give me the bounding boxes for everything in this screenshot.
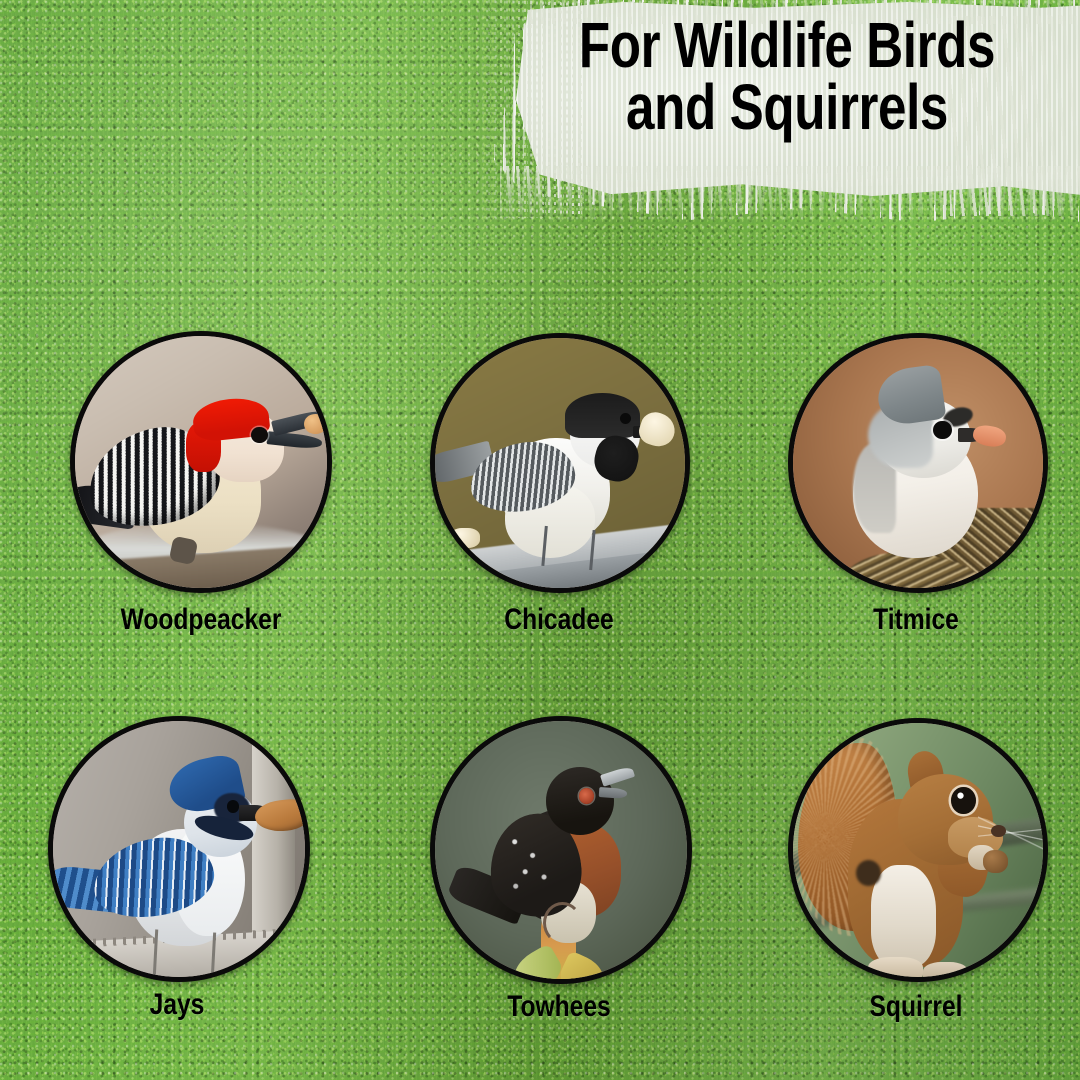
jays-photo	[53, 721, 305, 977]
woodpeacker-photo	[75, 336, 327, 588]
squirrel-white-belly	[871, 865, 936, 967]
peanut-on-rail	[450, 528, 480, 548]
product-feature-graphic: For Wildlife Birds and Squirrels	[0, 0, 1080, 1080]
bird-eye	[251, 427, 267, 443]
titmice-photo	[793, 338, 1043, 588]
squirrel-side-marking	[856, 860, 881, 885]
nut	[983, 850, 1008, 873]
header-title-line-2: and Squirrels	[533, 76, 1040, 138]
gallery-item-woodpeacker: Woodpeacker	[70, 331, 332, 641]
squirrel-photo-circle	[788, 718, 1048, 982]
squirrel-foot-right	[923, 962, 968, 977]
towhees-photo-circle	[430, 716, 692, 984]
gallery-item-towhees: Towhees	[430, 716, 688, 1026]
chicadee-photo-circle	[430, 333, 690, 593]
header-banner: For Wildlife Birds and Squirrels	[470, 0, 1080, 230]
gallery-label-chicadee: Chicadee	[453, 603, 665, 637]
gallery-label-titmice: Titmice	[811, 603, 1021, 637]
squirrel-photo	[793, 723, 1043, 977]
gallery-item-titmice: Titmice	[788, 333, 1044, 643]
gallery-item-squirrel: Squirrel	[788, 718, 1044, 1028]
gallery-label-squirrel: Squirrel	[811, 990, 1021, 1024]
towhees-photo	[435, 721, 687, 979]
gallery-label-towhees: Towhees	[453, 990, 665, 1024]
woodpeacker-photo-circle	[70, 331, 332, 593]
gallery-item-jays: Jays	[48, 716, 306, 1026]
squirrel-foot-left	[868, 957, 923, 977]
bird-legs	[541, 526, 595, 570]
titmice-photo-circle	[788, 333, 1048, 593]
squirrel-nose	[991, 825, 1006, 838]
header-title: For Wildlife Birds and Squirrels	[533, 14, 1040, 138]
bird-eye	[933, 421, 952, 440]
jays-photo-circle	[48, 716, 310, 982]
bird-red-eye	[579, 788, 594, 803]
banner-bottom-streaks	[500, 166, 1080, 224]
gallery-item-chicadee: Chicadee	[430, 333, 688, 643]
bird-legs	[153, 929, 217, 977]
gallery-label-woodpeacker: Woodpeacker	[94, 603, 309, 637]
squirrel-eye	[951, 787, 976, 815]
gallery-label-jays: Jays	[71, 988, 283, 1022]
bird-feet	[543, 902, 582, 944]
chicadee-photo	[435, 338, 685, 588]
